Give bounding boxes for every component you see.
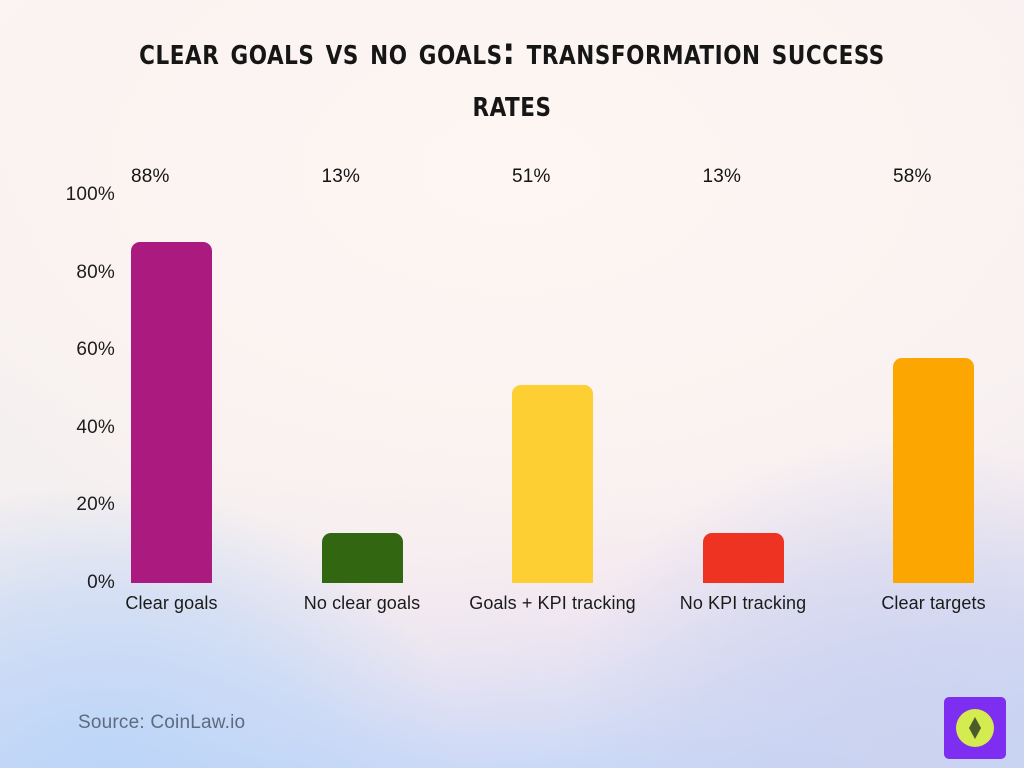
chart-title-line-2: Rates [472,82,551,125]
bar-group[interactable]: 13%No clear goals [322,195,403,583]
bar[interactable]: 51% [512,385,593,583]
chart-title: Clear Goals vs No Goals: Transformation … [98,26,926,130]
x-axis-category-label: No clear goals [304,593,420,614]
y-axis-tick-label: 0% [87,572,115,594]
bar-value-label: 51% [512,166,551,188]
y-axis-tick-label: 80% [76,262,115,284]
bar-value-label: 13% [322,166,361,188]
y-axis-tick-label: 100% [66,184,115,206]
y-axis-tick-label: 20% [76,494,115,516]
y-axis-tick-label: 60% [76,339,115,361]
bar[interactable]: 88% [131,242,212,583]
x-axis-category-label: No KPI tracking [680,593,807,614]
bar-group[interactable]: 58%Clear targets [893,195,974,583]
x-axis-category-label: Goals + KPI tracking [469,593,636,614]
bar-group[interactable]: 51%Goals + KPI tracking [512,195,593,583]
bar-value-label: 88% [131,166,170,188]
x-axis-category-label: Clear targets [881,593,985,614]
chart-title-line-1: Clear Goals vs No Goals: Transformation … [139,30,885,73]
bar[interactable]: 13% [703,533,784,583]
bar-value-label: 58% [893,166,932,188]
bar[interactable]: 58% [893,358,974,583]
source-caption: Source: CoinLaw.io [78,712,245,734]
logo-compass-icon [944,697,1006,759]
bar[interactable]: 13% [322,533,403,583]
y-axis-tick-label: 40% [76,417,115,439]
chart-plot-area: 100%80%60%40%20%0% 88%Clear goals13%No c… [131,195,974,583]
bar-value-label: 13% [703,166,742,188]
bar-group[interactable]: 88%Clear goals [131,195,212,583]
x-axis-category-label: Clear goals [125,593,217,614]
coinlaw-logo [944,697,1006,759]
bar-group[interactable]: 13%No KPI tracking [703,195,784,583]
